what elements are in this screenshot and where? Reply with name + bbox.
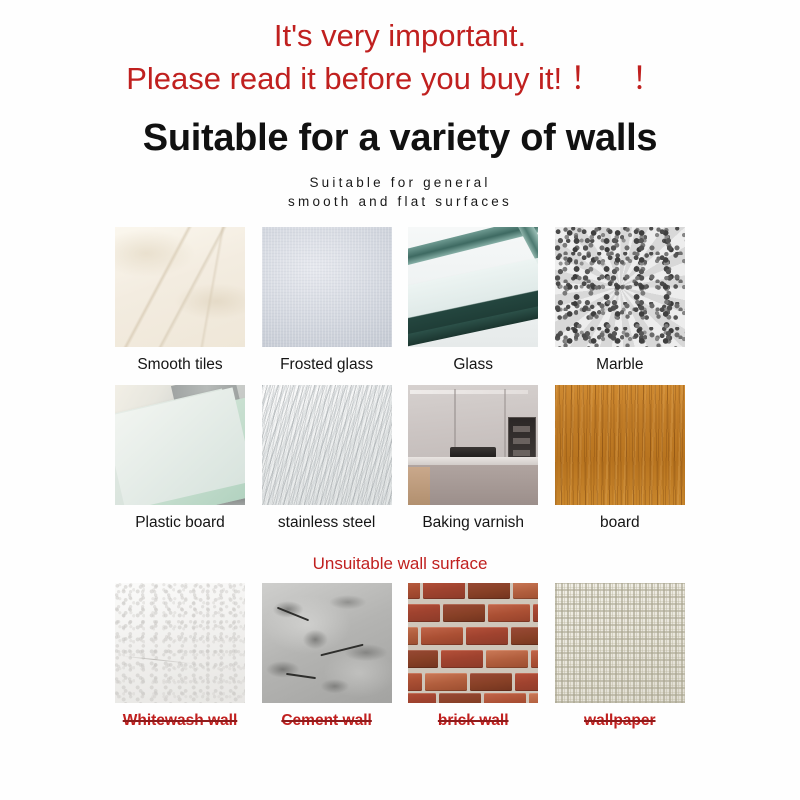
- brick-course: [408, 604, 538, 625]
- kitchen-side-cabinet: [408, 467, 430, 505]
- alert-exclamations: ！ ！: [570, 61, 674, 96]
- marble-image: [555, 227, 685, 347]
- surface-card-brick-wall: brick wall: [408, 583, 538, 732]
- surface-card-cement-wall: Cement wall: [262, 583, 392, 732]
- brick-course: [408, 627, 538, 648]
- surface-card-wallpaper: wallpaper: [555, 583, 685, 732]
- surface-label: Plastic board: [135, 512, 225, 534]
- smooth-tiles-image: [115, 227, 245, 347]
- page-subtitle: Suitable for general smooth and flat sur…: [0, 173, 800, 211]
- surface-card-frosted-glass: Frosted glass: [262, 227, 392, 376]
- surface-label: brick wall: [438, 710, 509, 732]
- whitewash-wall-image: [115, 583, 245, 703]
- surface-card-board: board: [555, 385, 685, 534]
- frosted-glass-image: [262, 227, 392, 347]
- surface-label: Cement wall: [281, 710, 371, 732]
- kitchen-top-rail: [410, 390, 528, 394]
- surface-card-glass: Glass: [408, 227, 538, 376]
- surface-label: stainless steel: [278, 512, 375, 534]
- surface-card-smooth-tiles: Smooth tiles: [115, 227, 245, 376]
- surface-card-whitewash-wall: Whitewash wall: [115, 583, 245, 732]
- surface-label: Glass: [453, 354, 493, 376]
- alert-line-2: Please read it before you buy it!！ ！: [0, 56, 800, 102]
- brick-course: [408, 583, 538, 602]
- surface-label: wallpaper: [584, 710, 656, 732]
- alert-banner: It's very important. Please read it befo…: [0, 0, 800, 102]
- surface-label: board: [600, 512, 640, 534]
- brick-wall-image: [408, 583, 538, 703]
- wallpaper-image: [555, 583, 685, 703]
- surface-label: Frosted glass: [280, 354, 373, 376]
- surface-label: Smooth tiles: [137, 354, 222, 376]
- surface-card-plastic-board: Plastic board: [115, 385, 245, 534]
- unsuitable-heading: Unsuitable wall surface: [0, 552, 800, 576]
- alert-line-2-text: Please read it before you buy it!: [126, 61, 562, 96]
- stainless-steel-image: [262, 385, 392, 505]
- wall-crack: [123, 656, 223, 667]
- subtitle-line-2: smooth and flat surfaces: [0, 192, 800, 211]
- brick-course: [408, 650, 538, 671]
- surface-label: Marble: [596, 354, 643, 376]
- suitable-surfaces-row-1: Smooth tiles Frosted glass Glass Marble: [115, 227, 685, 376]
- cement-crack: [286, 673, 316, 679]
- cement-crack: [320, 644, 363, 657]
- surface-label: Whitewash wall: [123, 710, 238, 732]
- wood-board-image: [555, 385, 685, 505]
- kitchen-wall-seam: [504, 389, 506, 459]
- brick-course: [408, 673, 538, 694]
- surface-card-marble: Marble: [555, 227, 685, 376]
- plastic-board-panel-3: [115, 387, 245, 505]
- cement-wall-image: [262, 583, 392, 703]
- surface-label: Baking varnish: [422, 512, 524, 534]
- plastic-board-image: [115, 385, 245, 505]
- suitable-surfaces-row-2: Plastic board stainless steel Baking var…: [115, 385, 685, 534]
- page-title: Suitable for a variety of walls: [0, 114, 800, 162]
- product-info-page: It's very important. Please read it befo…: [0, 0, 800, 800]
- unsuitable-surfaces-row: Whitewash wall Cement wall: [115, 583, 685, 732]
- subtitle-line-1: Suitable for general: [0, 173, 800, 192]
- baking-varnish-image: [408, 385, 538, 505]
- alert-line-1: It's very important.: [0, 16, 800, 56]
- surface-card-stainless-steel: stainless steel: [262, 385, 392, 534]
- glass-image: [408, 227, 538, 347]
- brick-course: [408, 693, 538, 703]
- surface-card-baking-varnish: Baking varnish: [408, 385, 538, 534]
- cement-crack: [276, 607, 308, 622]
